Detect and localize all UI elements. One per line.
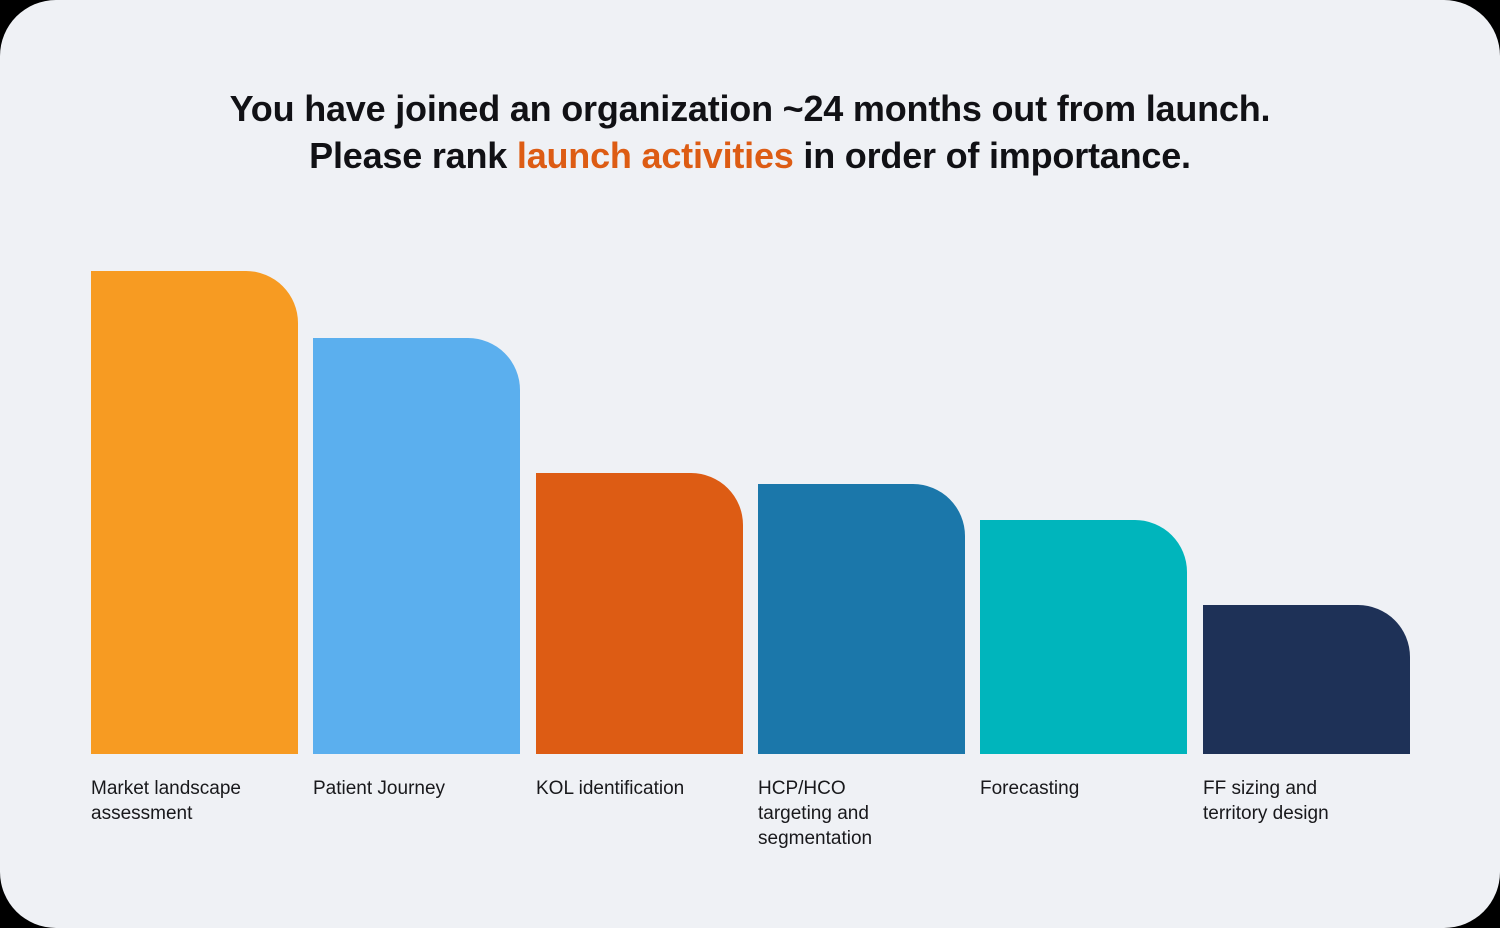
bar-5[interactable]: Forecasting xyxy=(980,520,1187,754)
bar-3[interactable]: KOL identification xyxy=(536,473,743,754)
bar-1[interactable]: Market landscape assessment xyxy=(91,271,298,754)
bar-label-1: Market landscape assessment xyxy=(91,776,321,826)
bar-rect-2 xyxy=(313,338,520,754)
chart-card: You have joined an organization ~24 mont… xyxy=(0,0,1500,928)
bar-chart-plot: Market landscape assessmentPatient Journ… xyxy=(0,0,1500,928)
bar-2[interactable]: Patient Journey xyxy=(313,338,520,754)
bar-rect-1 xyxy=(91,271,298,754)
bar-rect-5 xyxy=(980,520,1187,754)
bar-label-4: HCP/HCO targeting and segmentation xyxy=(758,776,988,851)
bar-rect-4 xyxy=(758,484,965,754)
bar-label-2: Patient Journey xyxy=(313,776,543,801)
bar-rect-3 xyxy=(536,473,743,754)
bar-rect-6 xyxy=(1203,605,1410,754)
bar-6[interactable]: FF sizing and territory design xyxy=(1203,605,1410,754)
bar-label-3: KOL identification xyxy=(536,776,766,801)
bar-4[interactable]: HCP/HCO targeting and segmentation xyxy=(758,484,965,754)
bar-label-5: Forecasting xyxy=(980,776,1210,801)
bar-label-6: FF sizing and territory design xyxy=(1203,776,1433,826)
